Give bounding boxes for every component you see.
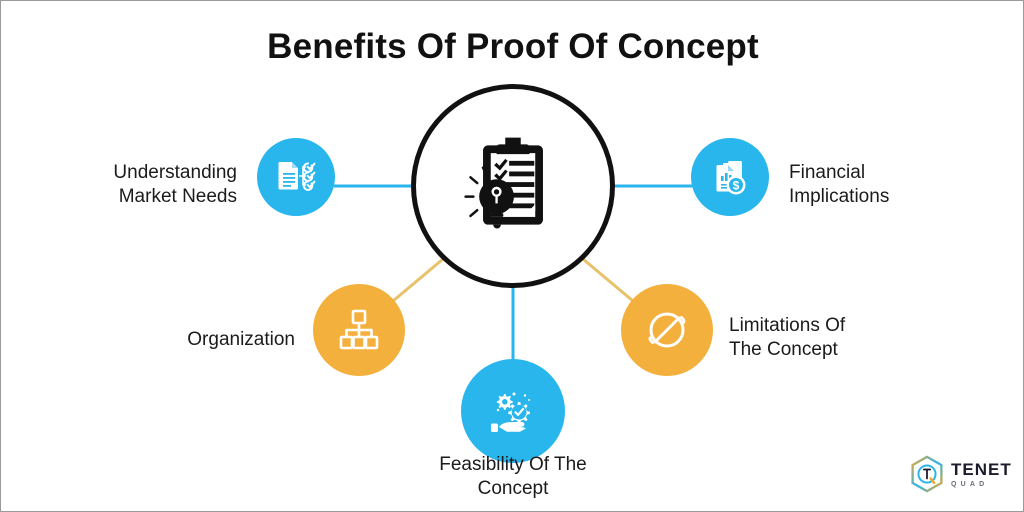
node-financial-implications[interactable]: $ [691,138,769,216]
label-limitations-of-the-concept: Limitations Of The Concept [729,314,949,363]
node-organization[interactable] [313,284,405,376]
infographic-canvas: Benefits Of Proof Of Concept [0,0,1024,512]
logo-text-block: TENET QUAD [951,461,1012,488]
hand-gears-check-icon [484,382,542,440]
label-financial-implications: Financial Implications [789,161,999,210]
hexagon-q-logo-icon [909,455,945,493]
logo-name: TENET [951,461,1012,478]
financial-report-dollar-icon: $ [706,153,754,201]
document-checklist-icon [272,153,320,201]
logo-tagline: QUAD [951,481,1012,488]
brand-logo[interactable]: TENET QUAD [909,453,1013,495]
node-feasibility-of-the-concept[interactable] [461,359,565,463]
prohibition-slashed-circle-icon [640,303,694,357]
connector-limitations-of-the-concept [583,259,633,301]
label-organization: Organization [109,328,295,352]
label-understanding-market-needs: Understanding Market Needs [47,161,237,210]
label-feasibility-of-the-concept: Feasibility Of The Concept [393,453,633,502]
clipboard-checklist-lightbulb-icon [455,128,571,244]
connector-organization [393,259,443,301]
node-understanding-market-needs[interactable] [257,138,335,216]
node-limitations-of-the-concept[interactable] [621,284,713,376]
hub-circle[interactable] [411,84,615,288]
svg-text:$: $ [733,179,740,193]
org-chart-hierarchy-icon [333,304,385,356]
